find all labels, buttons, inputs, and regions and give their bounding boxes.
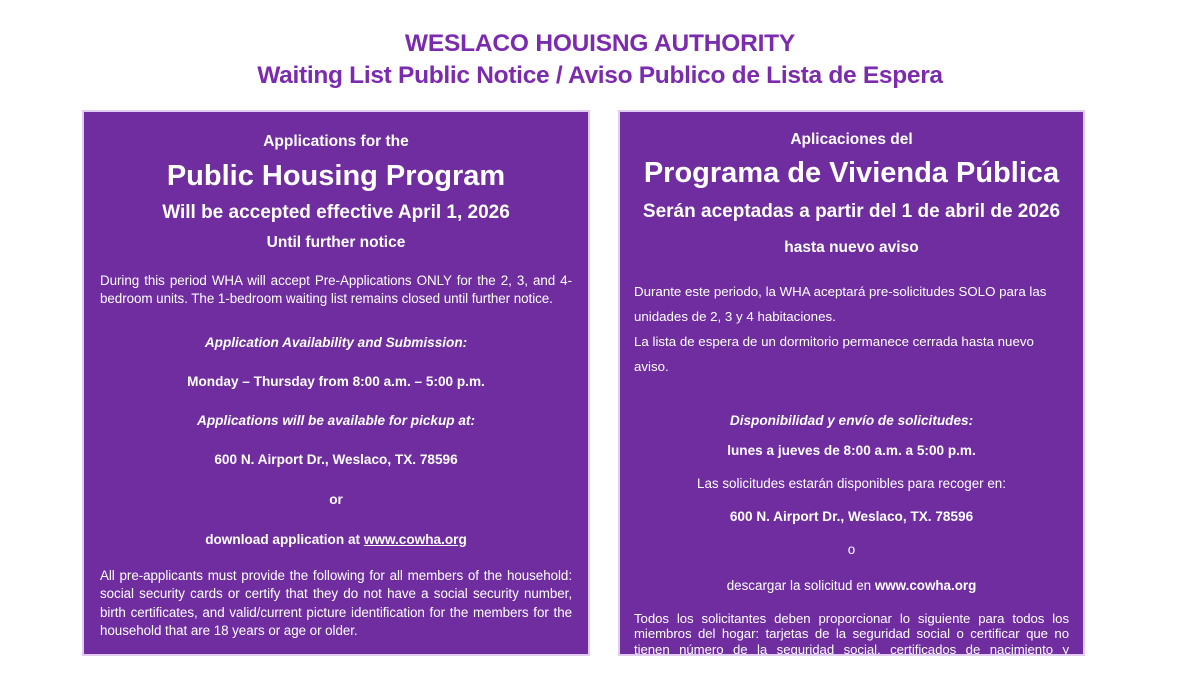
spanish-paragraph-period-line3: La lista de espera de un dormitorio perm… <box>634 329 1069 380</box>
english-subheading: Applications for the <box>110 132 562 151</box>
spanish-paragraph-documents: Todos los solicitantes deben proporciona… <box>634 611 1069 656</box>
spanish-download-line: descargar la solicitud en www.cowha.org <box>636 577 1067 596</box>
spanish-website-link[interactable]: www.cowha.org <box>875 578 976 593</box>
english-effective-date: Will be accepted effective April 1, 2026 <box>110 201 562 226</box>
english-office-hours: Monday – Thursday from 8:00 a.m. – 5:00 … <box>100 374 572 389</box>
english-website-link[interactable]: www.cowha.org <box>364 532 467 547</box>
english-until-further-notice: Until further notice <box>110 233 562 253</box>
spanish-office-address: 600 N. Airport Dr., Weslaco, TX. 78596 <box>636 509 1067 524</box>
spanish-download-prefix: descargar la solicitud en <box>727 578 875 593</box>
english-notice-panel: Applications for the Public Housing Prog… <box>82 110 590 656</box>
spanish-or-separator: o <box>636 541 1067 560</box>
spanish-pickup-heading: Las solicitudes estarán disponibles para… <box>636 475 1067 494</box>
english-office-address: 600 N. Airport Dr., Weslaco, TX. 78596 <box>100 452 572 467</box>
english-program-title: Public Housing Program <box>110 159 562 194</box>
public-notice-poster: WESLACO HOUISNG AUTHORITY Waiting List P… <box>0 0 1200 675</box>
spanish-program-title: Programa de Vivienda Pública <box>634 156 1069 191</box>
spanish-until-further-notice: hasta nuevo aviso <box>638 238 1065 258</box>
spanish-effective-date: Serán aceptadas a partir del 1 de abril … <box>638 200 1065 225</box>
english-pickup-heading: Applications will be available for picku… <box>100 413 572 428</box>
spanish-paragraph-period: Durante este periodo, la WHA aceptará pr… <box>634 279 1069 380</box>
notice-subtitle: Waiting List Public Notice / Aviso Publi… <box>0 62 1200 91</box>
spanish-availability-heading: Disponibilidad y envío de solicitudes: <box>636 413 1067 428</box>
spanish-office-hours: lunes a jueves de 8:00 a.m. a 5:00 p.m. <box>636 443 1067 458</box>
english-paragraph-period: During this period WHA will accept Pre-A… <box>100 272 572 309</box>
english-download-line: download application at www.cowha.org <box>100 532 572 547</box>
english-paragraph-documents: All pre-applicants must provide the foll… <box>100 567 572 641</box>
spanish-notice-panel: Aplicaciones del Programa de Vivienda Pú… <box>618 110 1085 656</box>
authority-title: WESLACO HOUISNG AUTHORITY <box>0 30 1200 59</box>
english-or-separator: or <box>100 492 572 507</box>
spanish-paragraph-period-line1: Durante este periodo, la WHA aceptará pr… <box>634 279 1069 304</box>
spanish-paragraph-period-line2: unidades de 2, 3 y 4 habitaciones. <box>634 304 1069 329</box>
english-download-prefix: download application at <box>205 532 364 547</box>
english-availability-heading: Application Availability and Submission: <box>100 335 572 350</box>
spanish-subheading: Aplicaciones del <box>642 130 1061 149</box>
poster-header: WESLACO HOUISNG AUTHORITY Waiting List P… <box>0 30 1200 91</box>
